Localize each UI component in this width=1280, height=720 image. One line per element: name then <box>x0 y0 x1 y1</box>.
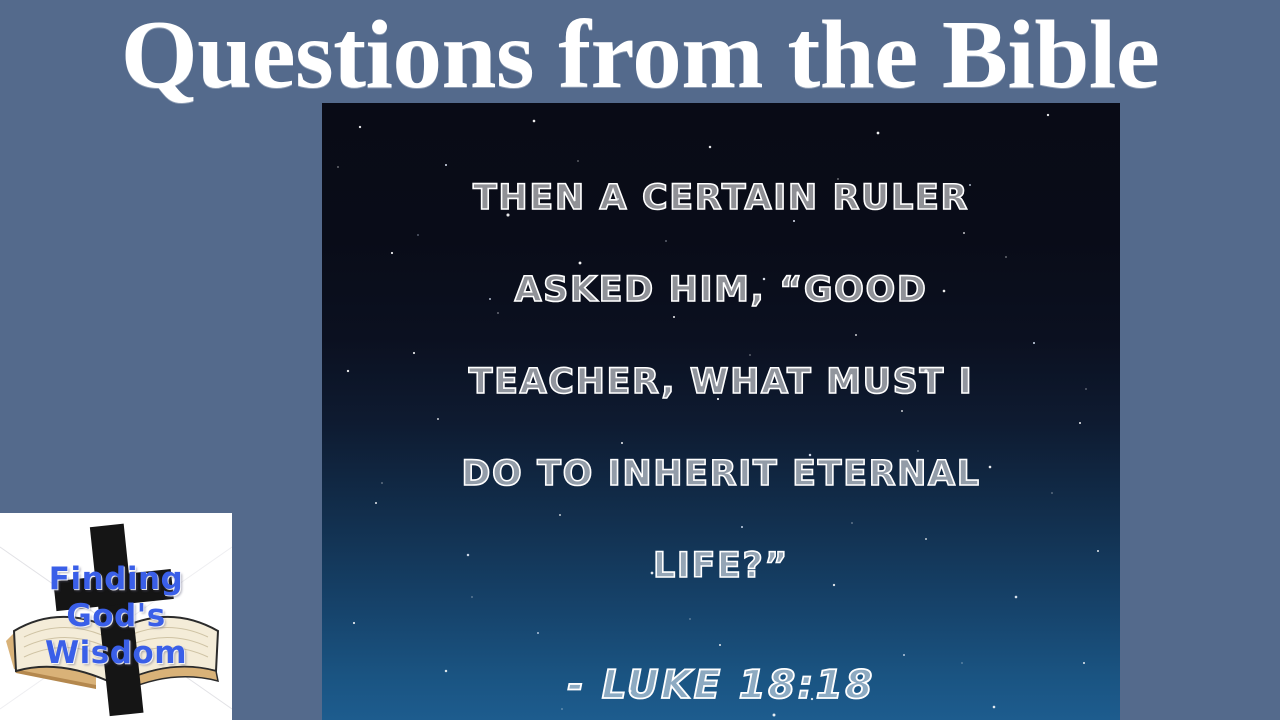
channel-logo-badge[interactable]: Finding God's Wisdom <box>0 513 232 720</box>
scripture-reference: - Luke 18:18 <box>322 663 1120 708</box>
page-title: Questions from the Bible <box>121 6 1160 103</box>
quote-line-4: do to inherit eternal <box>356 457 1086 492</box>
quote-line-3: teacher, what must I <box>356 365 1086 400</box>
quote-line-2: asked him, “Good <box>356 273 1086 308</box>
quote-line-5: life?” <box>356 549 1086 584</box>
quote-image-card: Then a certain ruler asked him, “Good te… <box>322 103 1120 720</box>
scripture-quote-text: Then a certain ruler asked him, “Good te… <box>322 181 1120 641</box>
slide-canvas: Then a certain ruler asked him, “Good te… <box>0 0 1280 720</box>
title-banner: Questions from the Bible <box>0 0 1280 104</box>
quote-line-1: Then a certain ruler <box>356 181 1086 216</box>
open-bible-icon <box>0 513 232 720</box>
